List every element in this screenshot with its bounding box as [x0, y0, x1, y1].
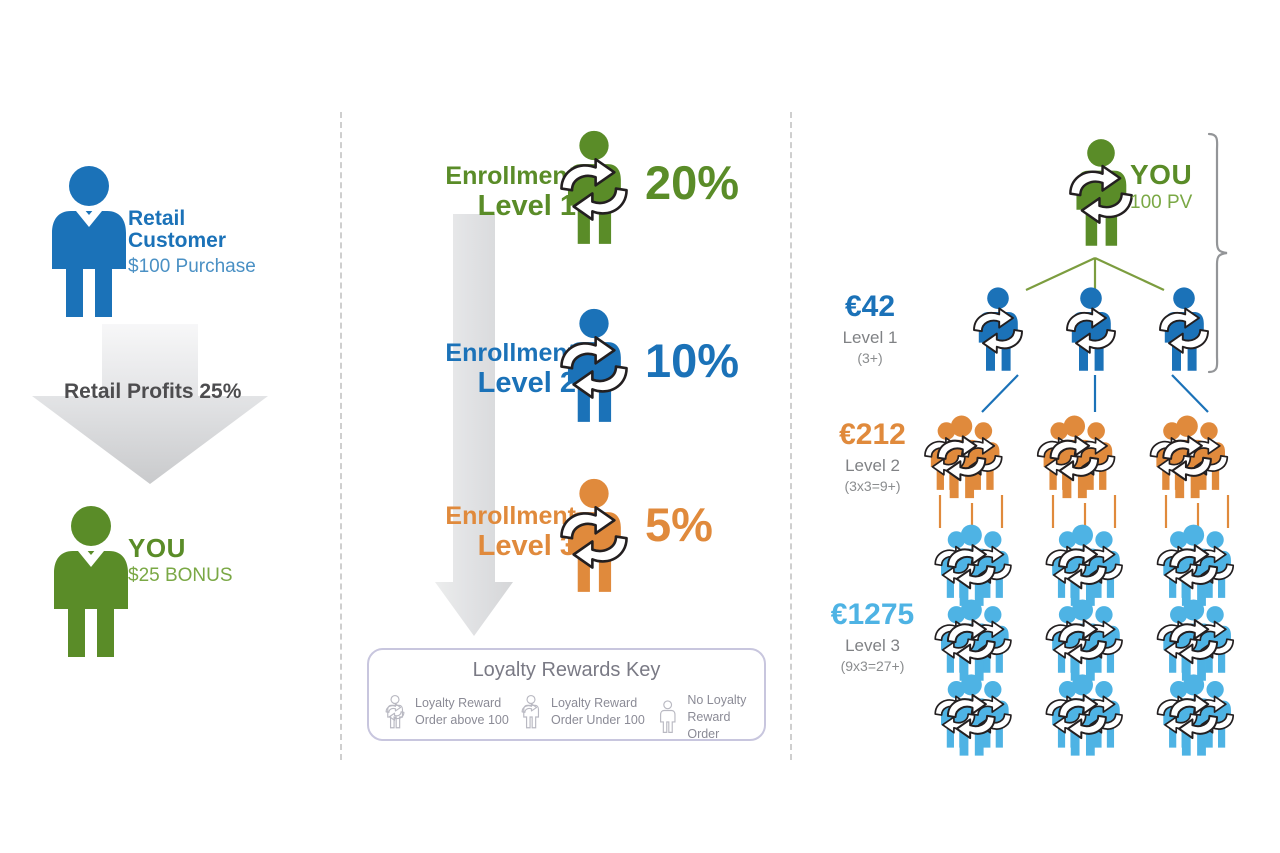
tree-level-1-label: €42 Level 1 (3+) [800, 290, 940, 366]
key-item-no-loyalty-line2: Reward Order [687, 709, 764, 743]
enrollment-level-2-title-2: Level 2 [340, 368, 576, 398]
enrollment-level-1-title-1: Enrollment [340, 163, 576, 189]
retail-profits-arrow [18, 324, 282, 486]
key-item-no-loyalty: No Loyalty Reward Order [654, 692, 764, 743]
enrollment-flow-arrow [434, 214, 514, 639]
key-item-under-100-line2: Order Under 100 [551, 712, 645, 729]
enrollment-level-3-title: Enrollment Level 3 [340, 503, 576, 562]
retail-you-title: YOU [128, 535, 233, 562]
loyalty-rewards-key-title: Loyalty Rewards Key [369, 659, 764, 682]
loyalty-rewards-key: Loyalty Rewards Key Loyalty Reward Order… [367, 648, 766, 741]
enrollment-level-2-title: Enrollment Level 2 [340, 340, 576, 399]
enrollment-level-1-title: Enrollment Level 1 [340, 163, 576, 222]
key-item-under-100: Loyalty Reward Order Under 100 [517, 692, 645, 732]
key-item-above-100-line2: Order above 100 [415, 712, 509, 729]
enrollment-level-1-title-2: Level 1 [340, 191, 576, 221]
tree-level-3-sub: (9x3=27+) [795, 658, 950, 674]
key-item-no-loyalty-text: No Loyalty Reward Order [687, 692, 764, 743]
retail-you-icon [48, 505, 134, 660]
retail-customer-title-1: Retail [128, 208, 256, 230]
retail-you-label: YOU $25 BONUS [128, 535, 233, 586]
tree-level-3-amount: €1275 [795, 598, 950, 632]
enrollment-level-1-person-loyalty-icon [545, 130, 643, 248]
tree-panel: YOU 100 PV 600 Team Volume €42 Level 1 (… [790, 0, 1280, 853]
tree-level-1-amount: €42 [800, 290, 940, 324]
tree-root-label: YOU 100 PV [1130, 160, 1192, 213]
enrollment-level-1-percent: 20% [645, 158, 739, 207]
key-item-above-100: Loyalty Reward Order above 100 [381, 692, 509, 732]
enrollment-level-3-title-1: Enrollment [340, 503, 576, 529]
tree-level-3-rows [928, 524, 1258, 758]
key-item-above-100-text: Loyalty Reward Order above 100 [415, 695, 509, 729]
enrollment-level-2-person-loyalty-icon [545, 308, 643, 426]
retail-customer-title-2: Customer [128, 230, 256, 252]
enrollment-level-3-percent: 5% [645, 500, 713, 549]
tree-level-1-caption: Level 1 [800, 328, 940, 348]
key-item-under-100-line1: Loyalty Reward [551, 695, 645, 712]
tree-root-title: YOU [1130, 160, 1192, 189]
infographic-canvas: Retail Customer $100 Purchase Retail Pro… [0, 0, 1280, 853]
key-item-under-100-text: Loyalty Reward Order Under 100 [551, 695, 645, 729]
tree-root-sublabel: 100 PV [1130, 193, 1192, 213]
tree-level-3-caption: Level 3 [795, 636, 950, 656]
enrollment-level-3-person-loyalty-icon [545, 478, 643, 596]
person-plain-icon [654, 697, 681, 737]
enrollment-level-2-percent: 10% [645, 336, 739, 385]
tree-level-1-row [968, 282, 1226, 378]
retail-customer-subtitle: $100 Purchase [128, 257, 256, 277]
key-item-above-100-line1: Loyalty Reward [415, 695, 509, 712]
tree-level-3-label: €1275 Level 3 (9x3=27+) [795, 598, 950, 674]
enrollment-level-2-title-1: Enrollment [340, 340, 576, 366]
tree-level-1-sub: (3+) [800, 350, 940, 366]
retail-panel: Retail Customer $100 Purchase Retail Pro… [0, 0, 340, 853]
retail-customer-icon [46, 165, 132, 320]
retail-you-subtitle: $25 BONUS [128, 566, 233, 586]
key-item-no-loyalty-line1: No Loyalty [687, 692, 764, 709]
retail-profits-label: Retail Profits 25% [64, 381, 241, 403]
enrollment-level-3-title-2: Level 3 [340, 531, 576, 561]
person-loyalty-above-icon [381, 692, 409, 732]
person-loyalty-under-icon [517, 692, 545, 732]
retail-customer-label: Retail Customer $100 Purchase [128, 208, 256, 277]
tree-level-2-row [918, 412, 1258, 504]
